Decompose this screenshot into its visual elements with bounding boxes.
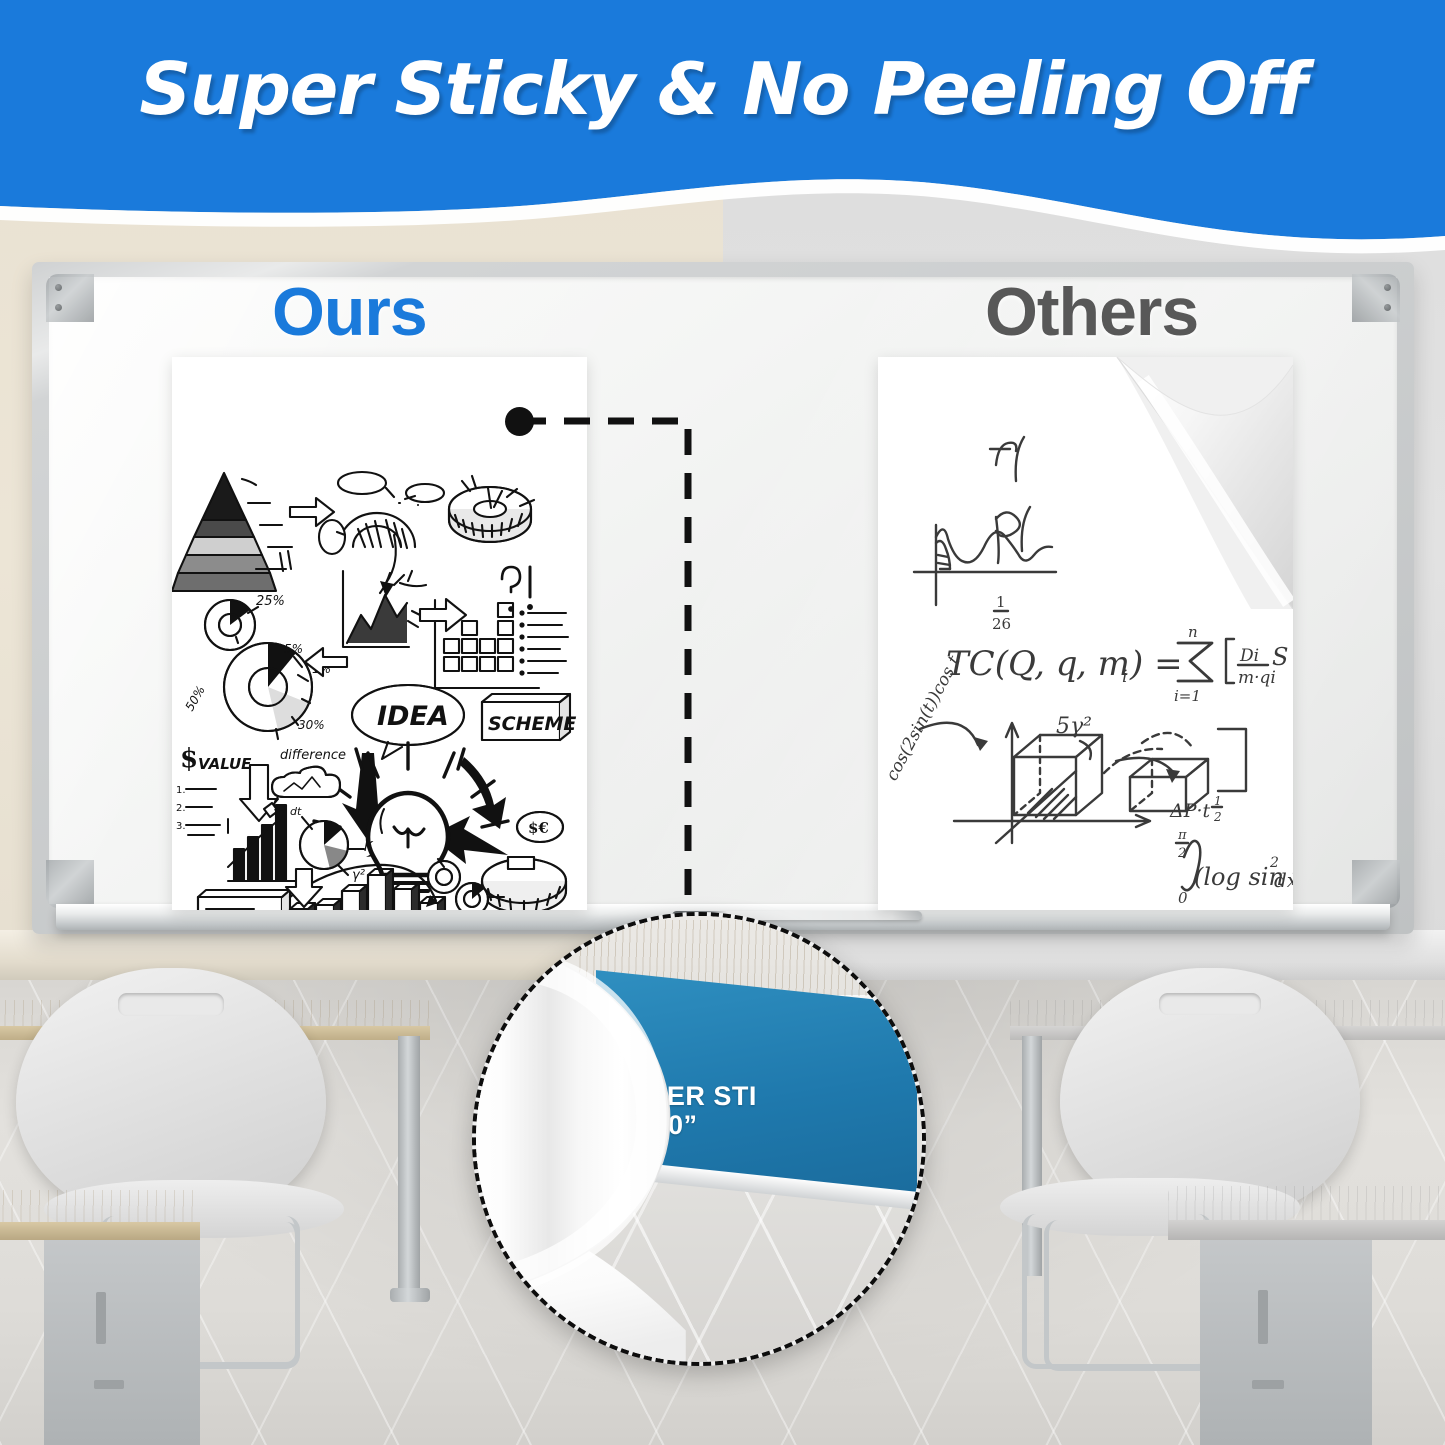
banner-title-text: Super Sticky & No Peeling Off — [0, 47, 1445, 131]
callout-lifted-sheet — [472, 912, 761, 1366]
svg-text:K: K — [364, 840, 374, 855]
chair-legs-right-2 — [1044, 1220, 1216, 1371]
svg-text:dx: dx — [1274, 868, 1293, 892]
label-ours: Ours — [272, 278, 427, 346]
svg-text:2.: 2. — [176, 803, 186, 814]
desk-foot — [390, 1288, 430, 1302]
svg-text:1: 1 — [996, 593, 1006, 611]
svg-text:cos(2sin(t))cos t: cos(2sin(t))cos t — [882, 652, 965, 784]
screw-icon — [1384, 304, 1391, 311]
chair-handle-slot — [118, 993, 223, 1016]
svg-text:i: i — [1122, 667, 1127, 687]
desk-front-panel-right — [1200, 1240, 1372, 1445]
svg-text:) =: ) = — [1129, 644, 1183, 684]
svg-text:$€: $€ — [528, 819, 549, 837]
svg-text:2: 2 — [1213, 810, 1222, 824]
desk-right-front — [1168, 1186, 1445, 1240]
svg-text:π: π — [1177, 828, 1187, 843]
svg-text:30%: 30% — [298, 718, 325, 732]
svg-text:ΔP·t: ΔP·t — [1169, 800, 1211, 822]
svg-text:5%: 5% — [284, 642, 303, 656]
svg-text:S: S — [1272, 643, 1288, 671]
ours-whiteboard-sheet: 25% 5% 1% 50% 30% — [172, 357, 587, 910]
screw-icon — [55, 304, 62, 311]
frame-corner-bracket-top-right — [1352, 274, 1400, 322]
svg-text:Di: Di — [1239, 646, 1259, 666]
banner-wave-shape — [0, 0, 1445, 268]
panel-slot — [1252, 1380, 1284, 1389]
svg-text:VALUE: VALUE — [198, 755, 252, 773]
frame-corner-bracket-bottom-left — [46, 860, 94, 908]
frame-corner-bracket-bottom-right — [1352, 860, 1400, 908]
panel-slot — [94, 1380, 124, 1389]
handwritten-math-illustration: 1 26 TC(Q, q i , m i ) = n i=1 Di — [878, 357, 1293, 910]
svg-text:m·qi: m·qi — [1238, 668, 1276, 688]
frame-corner-bracket-top-left — [46, 274, 94, 322]
svg-text:difference: difference — [280, 748, 346, 763]
chair-handle-slot — [1159, 993, 1261, 1015]
svg-text:0: 0 — [1178, 889, 1188, 907]
screw-icon — [55, 284, 62, 291]
label-others: Others — [985, 278, 1198, 346]
desk-leg — [398, 1036, 420, 1298]
svg-text:TC(Q, q: TC(Q, q — [946, 644, 1078, 684]
svg-text:SCHEME: SCHEME — [488, 713, 576, 735]
svg-text:dt: dt — [290, 805, 302, 818]
svg-text:1.: 1. — [176, 785, 186, 796]
svg-text:n: n — [1188, 623, 1198, 641]
panel-slot — [96, 1292, 106, 1344]
svg-text:i: i — [1068, 667, 1073, 687]
svg-text:IDEA: IDEA — [377, 701, 449, 732]
others-whiteboard-sheet: 1 26 TC(Q, q i , m i ) = n i=1 Di — [878, 357, 1293, 910]
svg-text:26: 26 — [992, 615, 1011, 633]
promo-banner: Super Sticky & No Peeling Off — [0, 0, 1445, 268]
svg-text:3.: 3. — [176, 821, 186, 832]
leader-dot-icon — [505, 407, 534, 436]
business-doodle-illustration: 25% 5% 1% 50% 30% — [172, 357, 587, 910]
svg-text:5γ²: 5γ² — [1056, 714, 1092, 739]
panel-slot — [1258, 1290, 1268, 1344]
product-comparison-image: Ours Others — [0, 0, 1445, 1445]
screw-icon — [1384, 284, 1391, 291]
desk-front-panel-left — [44, 1240, 200, 1445]
magnified-callout-circle: SUPER STI 25”x30” — [472, 912, 926, 1366]
desk-left-front — [0, 1190, 200, 1240]
svg-text:γ²: γ² — [352, 868, 365, 883]
svg-text:50%: 50% — [182, 683, 207, 713]
svg-text:$: $ — [180, 744, 198, 774]
svg-text:25%: 25% — [256, 594, 285, 609]
svg-text:i=1: i=1 — [1174, 687, 1201, 705]
